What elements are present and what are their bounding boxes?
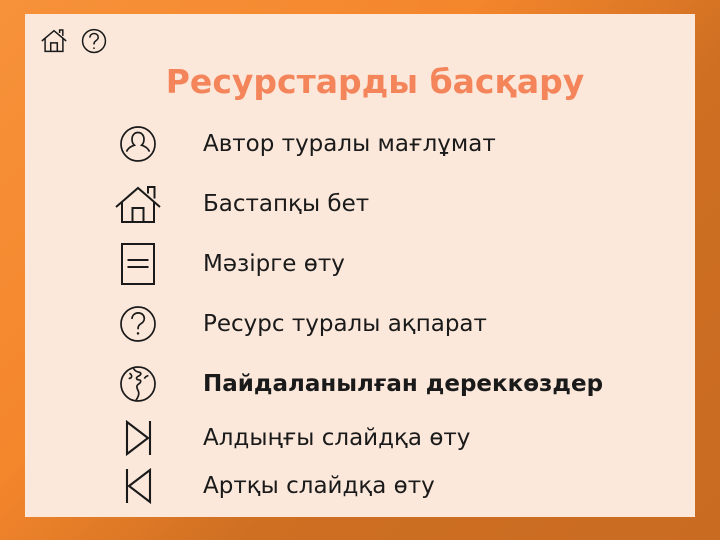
previous-slide-icon — [103, 464, 173, 508]
menu-item-label: Бастапқы бет — [173, 191, 369, 217]
menu-square-icon — [103, 240, 173, 288]
help-icon[interactable] — [79, 26, 109, 56]
menu-item-resource-info[interactable]: Ресурс туралы ақпарат — [103, 294, 683, 354]
person-circle-icon — [103, 121, 173, 167]
menu-item-label: Пайдаланылған дереккөздер — [173, 371, 603, 397]
quick-icon-bar — [39, 26, 109, 56]
slide: Ресурстарды басқару Автор туралы мағлұма… — [0, 0, 720, 540]
menu-item-author[interactable]: Автор туралы мағлұмат — [103, 114, 683, 174]
menu-item-label: Ресурс туралы ақпарат — [173, 311, 487, 337]
menu-item-home[interactable]: Бастапқы бет — [103, 174, 683, 234]
menu-item-previous-slide[interactable]: Артқы слайдқа өту — [103, 462, 683, 510]
page-title: Ресурстарды басқару — [25, 62, 695, 101]
menu-item-label: Артқы слайдқа өту — [173, 473, 435, 499]
question-circle-icon — [103, 301, 173, 347]
menu-item-label: Автор туралы мағлұмат — [173, 131, 496, 157]
home-icon — [103, 181, 173, 227]
menu-item-sources[interactable]: Пайдаланылған дереккөздер — [103, 354, 683, 414]
next-slide-icon — [103, 416, 173, 460]
menu-item-menu[interactable]: Мәзірге өту — [103, 234, 683, 294]
menu-item-label: Алдыңғы слайдқа өту — [173, 425, 470, 451]
menu-item-next-slide[interactable]: Алдыңғы слайдқа өту — [103, 414, 683, 462]
home-icon[interactable] — [39, 26, 69, 56]
globe-icon — [103, 361, 173, 407]
slide-panel: Ресурстарды басқару Автор туралы мағлұма… — [25, 14, 695, 517]
menu-item-label: Мәзірге өту — [173, 251, 345, 277]
menu-list: Автор туралы мағлұмат Бастапқы бет — [103, 114, 683, 510]
